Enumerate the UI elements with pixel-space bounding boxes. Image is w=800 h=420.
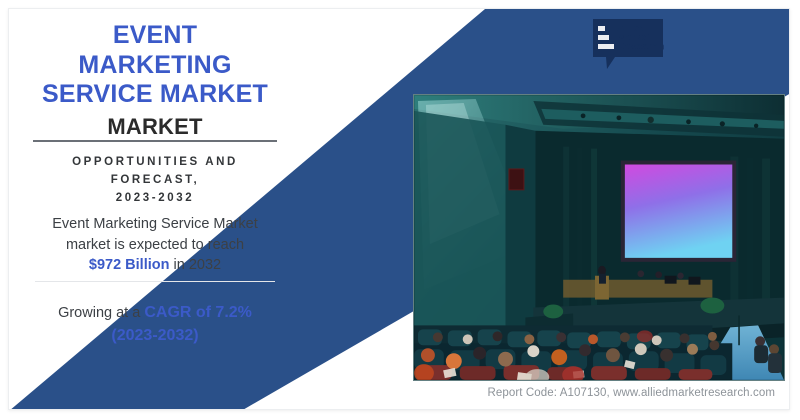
statement-line-1: Event Marketing Service Market [52,216,258,232]
cagr-highlight: CAGR of 7.2% [144,304,252,321]
market-value-statement: Event Marketing Service Market market is… [19,214,291,276]
subhead-block: OPPORTUNITIES AND FORECAST, 2023-2032 [19,154,291,207]
subhead-line-1: OPPORTUNITIES AND [72,156,238,168]
title-block: EVENT MARKETING SERVICE MARKET MARKET [19,21,291,140]
auditorium-conference-photo [413,94,785,381]
logo-text-research: Research [617,41,664,53]
report-card: Allied Market Research [8,8,790,410]
statement-line-2: market is expected to reach [66,237,244,253]
page-title: EVENT MARKETING SERVICE MARKET [19,21,291,110]
cagr-statement: Growing at a CAGR of 7.2% (2023-2032) [19,301,291,347]
title-line-2: MARKETING [78,51,231,79]
left-text-column: EVENT MARKETING SERVICE MARKET MARKET OP… [19,9,291,410]
market-value-year: in 2032 [174,257,222,273]
market-value-highlight: $972 Billion [89,257,170,273]
amr-logo[interactable]: Allied Market Research [589,17,697,75]
title-line-1: EVENT [113,21,197,49]
subhead-line-2: FORECAST, [111,174,200,186]
title-divider [33,140,277,142]
auditorium-illustration [414,95,784,380]
cagr-prefix: Growing at a [58,305,140,321]
subhead-line-3: 2023-2032 [116,192,194,204]
amr-logo-icon: Allied Market Research [589,17,697,75]
cagr-period: (2023-2032) [111,327,198,344]
page-subtitle: MARKET [19,114,291,140]
section-divider [35,281,275,282]
title-line-3: SERVICE MARKET [42,80,268,108]
infographic-root: Allied Market Research [0,0,800,420]
report-caption: Report Code: A107130, www.alliedmarketre… [487,387,775,399]
